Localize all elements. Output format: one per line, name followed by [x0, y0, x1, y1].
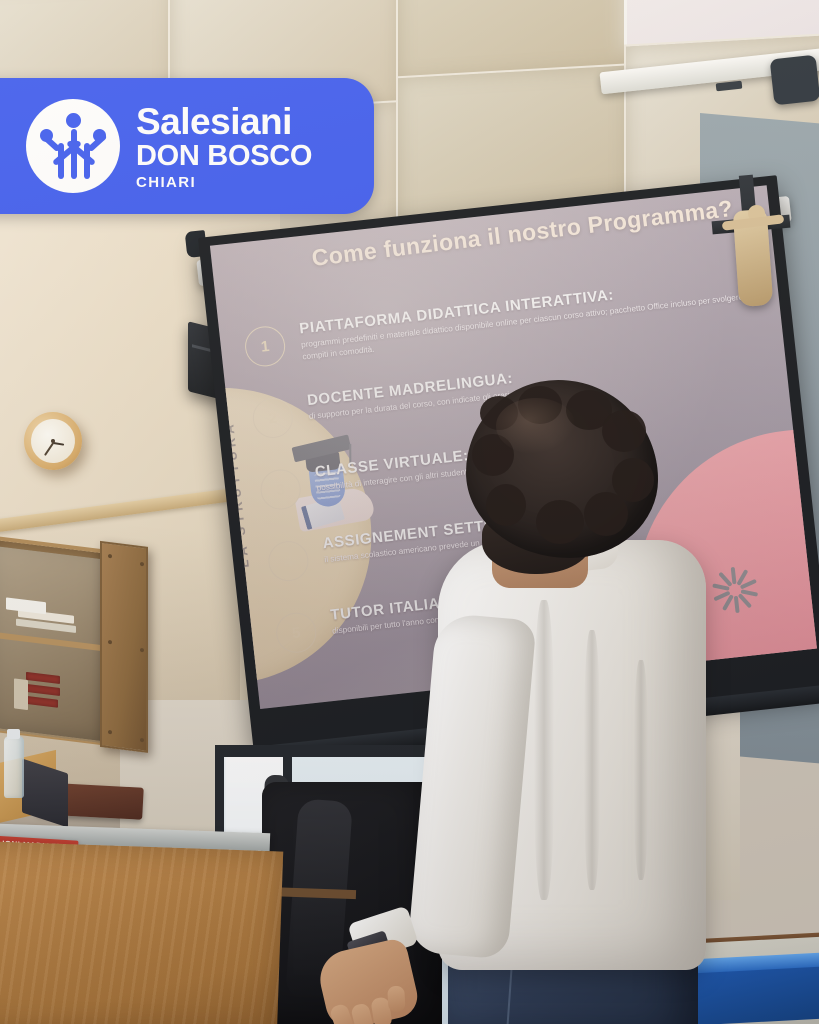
- hair-highlight: [496, 398, 576, 454]
- item-number-badge: 1: [243, 324, 287, 368]
- salesiani-logo-badge: Salesiani DON BOSCO CHIARI: [0, 78, 374, 214]
- item-number-badge: 4: [266, 539, 310, 583]
- logo-text: Salesiani DON BOSCO CHIARI: [136, 103, 312, 190]
- desk-front-panel: [0, 840, 283, 1024]
- presenter: [330, 380, 730, 1024]
- screen-mount-bracket: [770, 55, 819, 106]
- clock-minute-hand: [44, 442, 54, 456]
- salesiani-people-house-icon: [38, 113, 108, 179]
- clock-face: [29, 417, 77, 465]
- cabinet-body: [0, 535, 106, 745]
- logo-line-2: DON BOSCO: [136, 142, 312, 171]
- cabinet-door[interactable]: [100, 541, 148, 753]
- bottle-cap: [7, 729, 20, 739]
- logo-line-3: CHIARI: [136, 175, 312, 190]
- item-number-badge: 5: [274, 611, 318, 655]
- cabinet-book-beige: [14, 678, 28, 710]
- logo-circle: [26, 99, 120, 193]
- clock-hour-hand: [53, 442, 64, 446]
- wall-cabinet: [0, 535, 148, 755]
- item-number-badge: 2: [251, 396, 295, 440]
- classroom-presentation-photo: LA STRUTTURA Come funziona il nostro: [0, 0, 819, 1024]
- water-bottle: [4, 736, 24, 798]
- item-number-badge: 3: [259, 468, 303, 512]
- hand: [314, 937, 421, 1024]
- logo-line-1: Salesiani: [136, 103, 312, 140]
